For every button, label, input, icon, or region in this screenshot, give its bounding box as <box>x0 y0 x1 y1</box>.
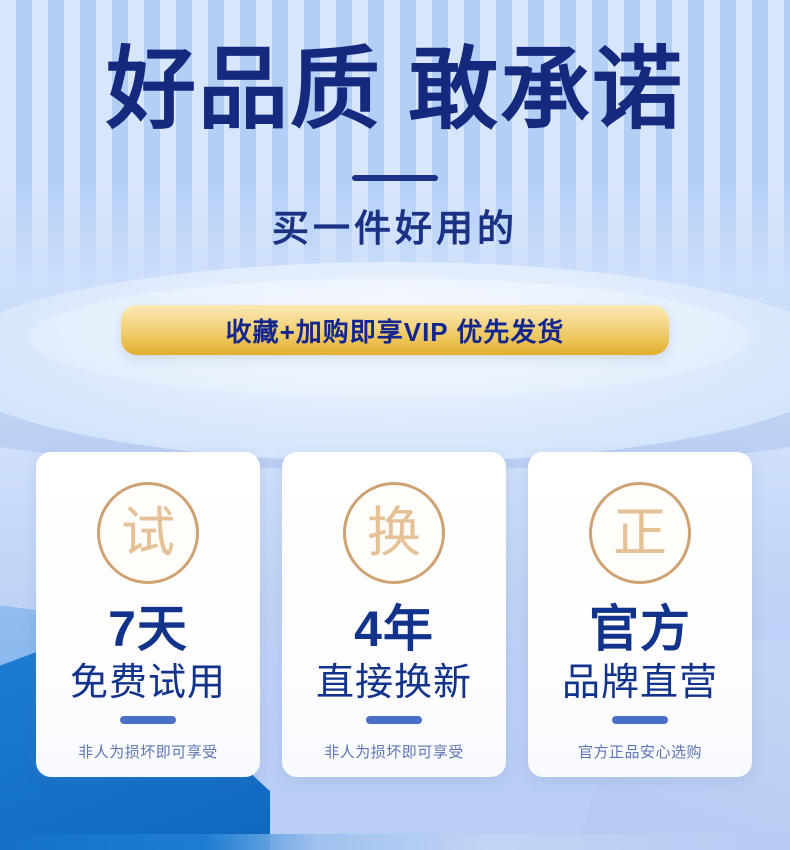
subtitle: 买一件好用的 <box>0 198 790 252</box>
card-subheadline: 品牌直营 <box>562 664 718 704</box>
vip-promo-button[interactable]: 收藏+加购即享VIP 优先发货 <box>121 305 669 355</box>
card-subheadline: 免费试用 <box>70 664 226 704</box>
headline-part-2: 敢承诺 <box>408 40 684 140</box>
card-divider <box>120 716 176 724</box>
card-note: 官方正品安心选购 <box>578 741 702 762</box>
card-note: 非人为损坏即可享受 <box>324 741 464 762</box>
promo-banner: 好品质敢承诺 买一件好用的 收藏+加购即享VIP 优先发货 试 7天 免费试用 … <box>0 0 790 850</box>
bottom-color-strip <box>0 834 790 850</box>
headline-part-1: 好品质 <box>106 40 382 140</box>
card-subheadline: 直接换新 <box>316 664 472 704</box>
seal-character: 换 <box>367 506 421 560</box>
card-headline: 7天 <box>108 604 188 654</box>
seal-character: 正 <box>613 506 667 560</box>
seal-circle-icon: 换 <box>343 482 445 584</box>
seal-character: 试 <box>121 506 175 560</box>
card-headline: 4年 <box>354 604 434 654</box>
feature-card-list: 试 7天 免费试用 非人为损坏即可享受 换 4年 直接换新 非人为损坏即可享受 … <box>36 452 754 777</box>
card-divider <box>612 716 668 724</box>
page-title: 好品质敢承诺 <box>0 42 790 139</box>
seal-circle-icon: 试 <box>97 482 199 584</box>
seal-circle-icon: 正 <box>589 482 691 584</box>
feature-card-trial[interactable]: 试 7天 免费试用 非人为损坏即可享受 <box>36 452 260 777</box>
card-headline: 官方 <box>589 604 691 654</box>
feature-card-official[interactable]: 正 官方 品牌直营 官方正品安心选购 <box>528 452 752 777</box>
card-note: 非人为损坏即可享受 <box>78 741 218 762</box>
title-divider <box>352 175 438 181</box>
card-divider <box>366 716 422 724</box>
feature-card-exchange[interactable]: 换 4年 直接换新 非人为损坏即可享受 <box>282 452 506 777</box>
vip-promo-label: 收藏+加购即享VIP 优先发货 <box>226 312 565 349</box>
